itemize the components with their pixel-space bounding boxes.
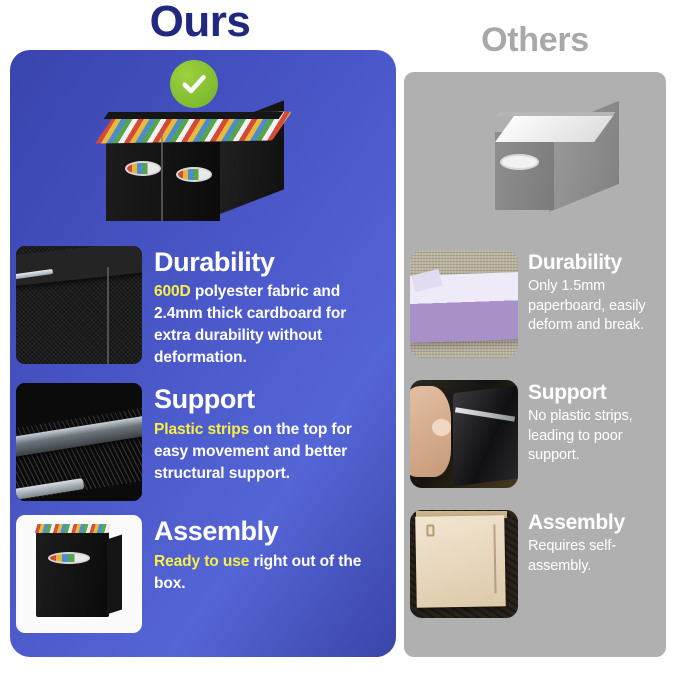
feature-title-others-durability: Durability [528,252,658,274]
hero-image-ours [98,108,288,228]
title-ours: Ours [0,0,400,46]
feature-body-ours-support: Plastic strips on the top for easy movem… [154,419,378,485]
feature-body-others-durability: Only 1.5mm paperboard, easily deform and… [528,277,658,336]
feature-row-others-durability: Durability Only 1.5mm paperboard, easily… [404,250,666,358]
feature-title-ours-durability: Durability [154,248,378,276]
comparison-infographic: Ours Others Durability 600D polyester [0,0,679,681]
highlight-plastic-strips: Plastic strips [154,421,249,438]
feature-row-ours-support: Support Plastic strips on the top for ea… [10,383,396,501]
feature-list-ours: Durability 600D polyester fabric and 2.4… [10,246,396,647]
feature-list-others: Durability Only 1.5mm paperboard, easily… [404,250,666,640]
feature-body-ours-assembly: Ready to use right out of the box. [154,551,378,595]
thumb-black-fabric-texture-icon [16,246,142,364]
thumb-plastic-strip-icon [16,383,142,501]
feature-row-others-assembly: Assembly Requires self-assembly. [404,510,666,618]
highlight-600d: 600D [154,283,191,300]
thumb-deformed-lavender-box-icon [410,250,518,358]
thumb-assembled-black-box-icon [16,515,142,633]
feature-row-others-support: Support No plastic strips, leading to po… [404,380,666,488]
feature-body-others-support: No plastic strips, leading to poor suppo… [528,407,658,466]
feature-body-ours-durability: 600D polyester fabric and 2.4mm thick ca… [154,281,378,369]
thumb-hand-gripping-box-icon [410,380,518,488]
feature-row-ours-assembly: Assembly Ready to use right out of the b… [10,515,396,633]
green-check-badge-icon [170,60,218,108]
feature-title-ours-support: Support [154,385,378,413]
feature-body-others-assembly: Requires self-assembly. [528,537,658,576]
feature-row-ours-durability: Durability 600D polyester fabric and 2.4… [10,246,396,369]
hero-image-others [492,100,622,222]
feature-title-ours-assembly: Assembly [154,517,378,545]
highlight-ready-to-use: Ready to use [154,553,249,570]
title-others: Others [404,22,666,59]
feature-title-others-assembly: Assembly [528,512,658,534]
feature-title-others-support: Support [528,382,658,404]
thumb-flat-cardboard-icon [410,510,518,618]
